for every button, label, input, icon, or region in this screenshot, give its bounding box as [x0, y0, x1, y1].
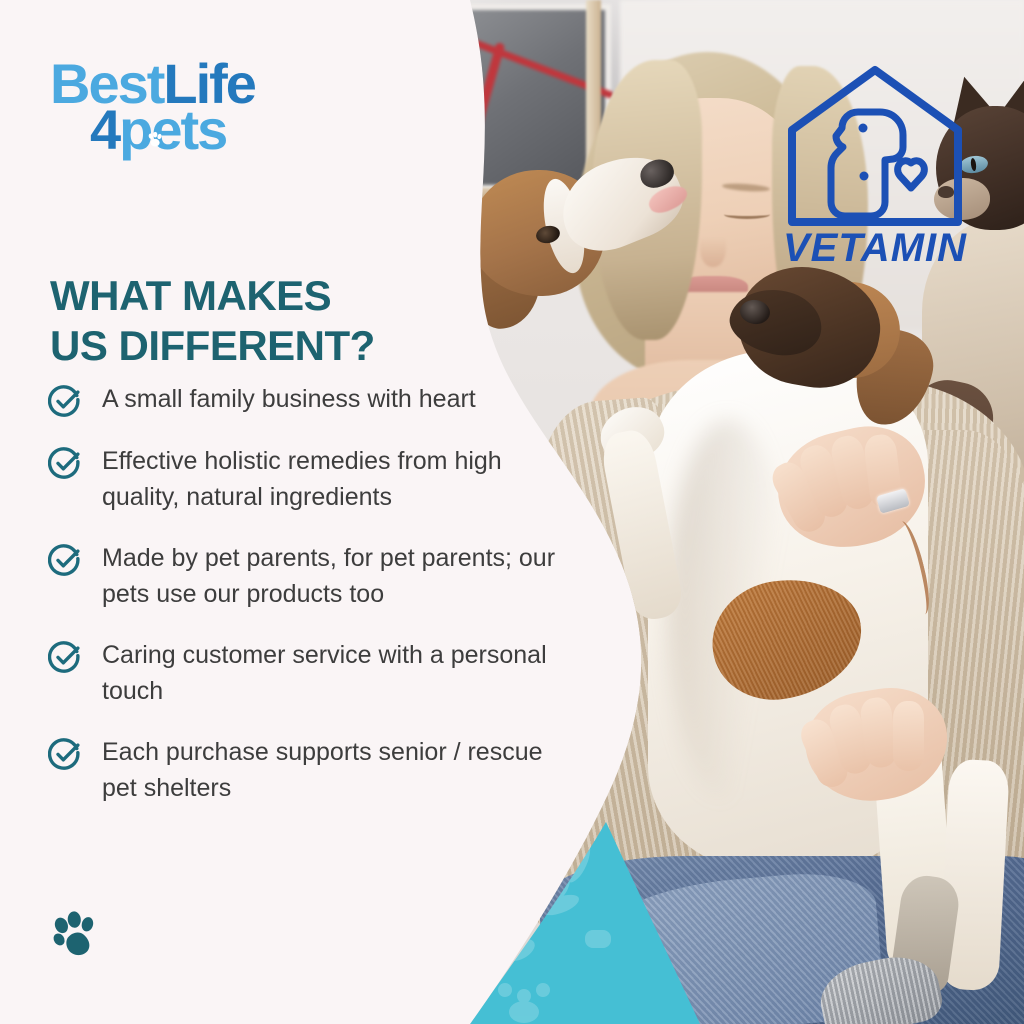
vetamin-badge[interactable]: VETAMIN: [780, 58, 970, 270]
brand-logo[interactable]: BestLife 4pets: [50, 58, 300, 155]
brand-logo-line-two: 4pets: [90, 104, 300, 156]
paw-print-icon: [48, 905, 104, 961]
list-item-label: A small family business with heart: [102, 382, 476, 418]
brand-word-four: 4: [90, 98, 119, 161]
house-outline-icon: [792, 70, 958, 222]
woman-nose: [700, 225, 726, 267]
dog-eye-icon: [859, 124, 868, 133]
heart-icon: [898, 161, 925, 188]
list-item: Made by pet parents, for pet parents; ou…: [48, 541, 568, 612]
list-item: Effective holistic remedies from high qu…: [48, 444, 568, 515]
content-panel: BestLife 4pets WHAT MAKES US DIFFERENT?: [0, 0, 470, 1024]
check-circle-icon: [48, 543, 82, 577]
headline-line-one: WHAT MAKES: [50, 272, 331, 319]
vetamin-badge-artwork: VETAMIN: [780, 58, 970, 270]
paw-print-icon: [144, 130, 166, 150]
marketing-graphic: BestLife 4pets WHAT MAKES US DIFFERENT?: [0, 0, 1024, 1024]
list-item: A small family business with heart: [48, 382, 568, 418]
list-item-label: Made by pet parents, for pet parents; ou…: [102, 541, 562, 612]
cat-eye-icon: [860, 172, 869, 181]
list-item: Caring customer service with a personal …: [48, 638, 568, 709]
page-title: WHAT MAKES US DIFFERENT?: [50, 271, 450, 370]
list-item-label: Effective holistic remedies from high qu…: [102, 444, 562, 515]
list-item: Each purchase supports senior / rescue p…: [48, 735, 568, 806]
list-item-label: Caring customer service with a personal …: [102, 638, 562, 709]
check-circle-icon: [48, 384, 82, 418]
list-item-label: Each purchase supports senior / rescue p…: [102, 735, 562, 806]
headline-line-two: US DIFFERENT?: [50, 322, 375, 369]
wall-picture-frame: [455, 10, 605, 185]
check-circle-icon: [48, 640, 82, 674]
check-circle-icon: [48, 737, 82, 771]
brand-word-pets: pets: [119, 98, 226, 161]
woman-eye-right: [724, 210, 770, 219]
check-circle-icon: [48, 446, 82, 480]
finger: [893, 701, 924, 771]
benefits-list: A small family business with heart Effec…: [48, 382, 568, 832]
vetamin-wordmark: VETAMIN: [783, 226, 967, 270]
